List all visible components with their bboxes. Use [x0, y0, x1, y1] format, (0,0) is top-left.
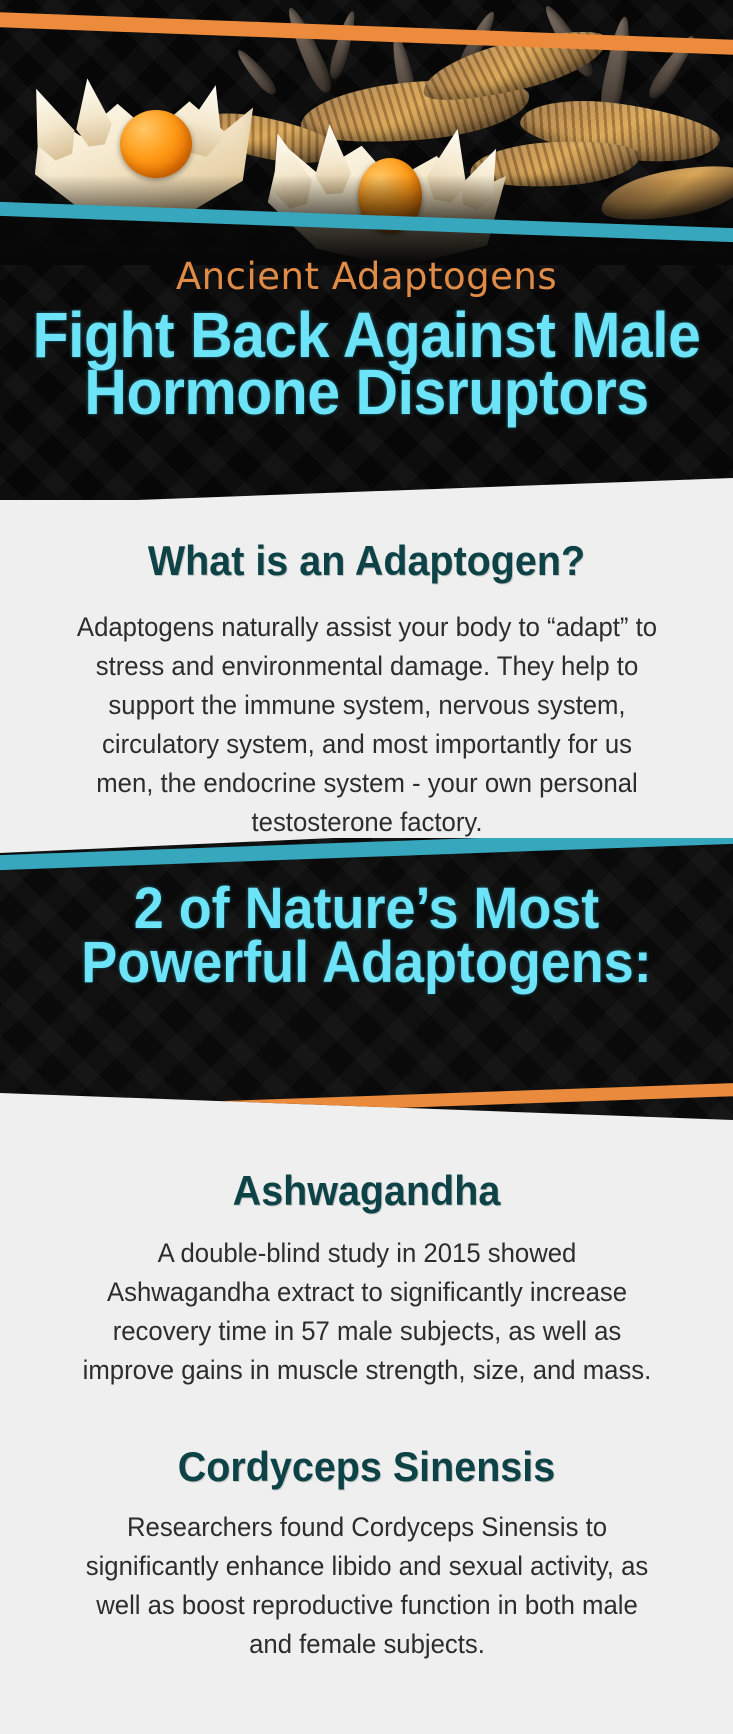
adaptogen-heading: What is an Adaptogen? [60, 540, 674, 582]
band-title: 2 of Nature’s Most Powerful Adaptogens: [26, 882, 708, 990]
ashwagandha-body: A double-blind study in 2015 showed Ashw… [76, 1234, 658, 1390]
band-title-line-1: 2 of Nature’s Most [26, 882, 708, 936]
cordyceps-body: Researchers found Cordyceps Sinensis to … [85, 1508, 648, 1664]
hero-section: Ancient Adaptogens Fight Back Against Ma… [0, 0, 733, 500]
adaptogen-content: What is an Adaptogen? Adaptogens natural… [0, 478, 733, 842]
section-adaptogen-details: Ashwagandha A double-blind study in 2015… [0, 1100, 733, 1734]
hero-headline-line-2: Hormone Disruptors [29, 364, 703, 422]
cordyceps-heading: Cordyceps Sinensis [22, 1446, 711, 1488]
section-what-is-an-adaptogen: What is an Adaptogen? Adaptogens natural… [0, 478, 733, 838]
hero-headline-line-1: Fight Back Against Male [29, 307, 703, 365]
block-cordyceps: Cordyceps Sinensis Researchers found Cor… [0, 1446, 733, 1664]
physalis-berry-icon [120, 110, 192, 178]
section-two-adaptogens-band: 2 of Nature’s Most Powerful Adaptogens: [0, 820, 733, 1120]
hero-kicker: Ancient Adaptogens [0, 258, 733, 297]
cordyceps-stalk-icon [234, 46, 280, 97]
hero-text-block: Ancient Adaptogens Fight Back Against Ma… [0, 258, 733, 422]
band-title-line-2: Powerful Adaptogens: [26, 936, 708, 990]
hero-headline: Fight Back Against Male Hormone Disrupto… [29, 307, 703, 422]
ashwagandha-heading: Ashwagandha [22, 1170, 711, 1212]
block-ashwagandha: Ashwagandha A double-blind study in 2015… [0, 1170, 733, 1390]
adaptogen-body: Adaptogens naturally assist your body to… [71, 608, 663, 842]
cordyceps-stalk-icon [282, 4, 336, 95]
infographic-page: Ancient Adaptogens Fight Back Against Ma… [0, 0, 733, 1734]
cordyceps-stalk-icon [327, 9, 360, 80]
